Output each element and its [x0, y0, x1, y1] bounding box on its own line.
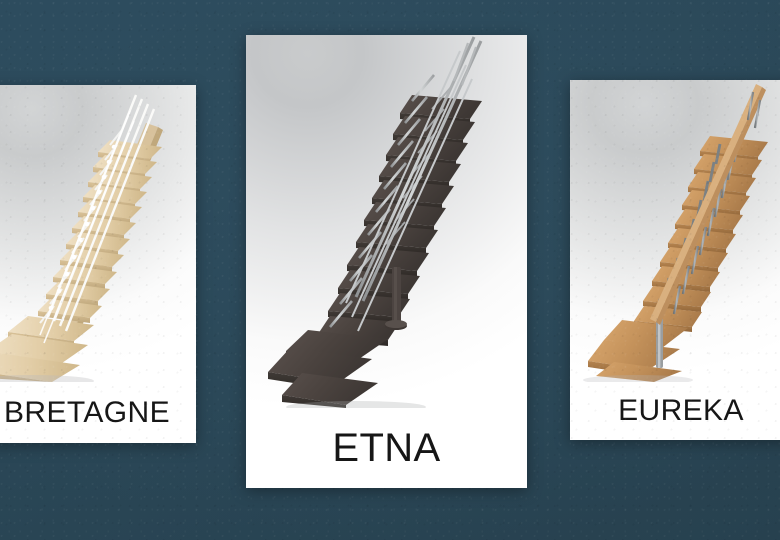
product-name-eureka: EUREKA — [618, 394, 744, 428]
staircase-illustration-bretagne — [0, 85, 196, 382]
product-label-bretagne: BRETAGNE — [0, 382, 196, 443]
staircase-illustration-eureka — [570, 80, 780, 382]
product-image-eureka — [570, 80, 780, 382]
product-card-eureka[interactable]: EUREKA — [570, 80, 780, 440]
product-card-etna[interactable]: ETNA — [246, 35, 527, 488]
product-image-etna — [246, 35, 527, 408]
slide-background: BRETAGNE — [0, 0, 780, 540]
product-image-bretagne — [0, 85, 196, 382]
product-card-bretagne[interactable]: BRETAGNE — [0, 85, 196, 443]
product-label-etna: ETNA — [246, 408, 527, 488]
product-label-eureka: EUREKA — [570, 382, 780, 440]
product-name-bretagne: BRETAGNE — [4, 396, 170, 430]
product-name-etna: ETNA — [332, 426, 440, 471]
staircase-illustration-etna — [246, 35, 527, 408]
